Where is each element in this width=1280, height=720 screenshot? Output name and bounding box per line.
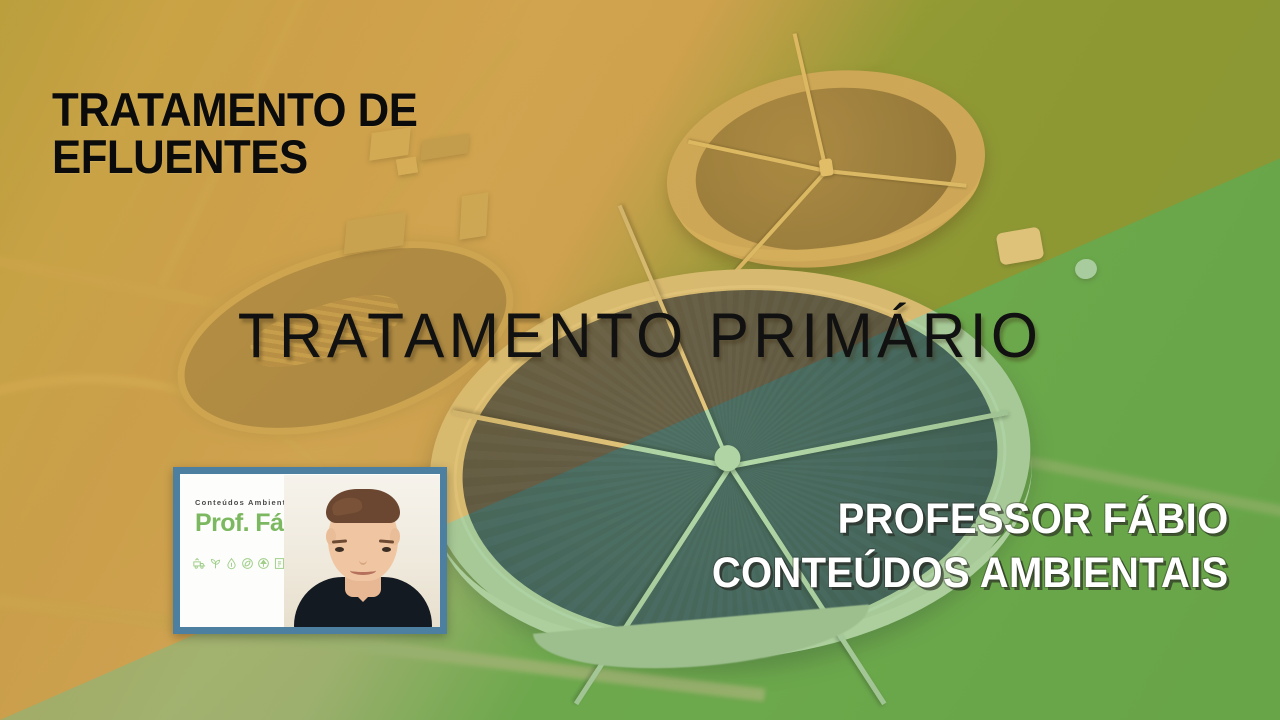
portrait-eye xyxy=(335,547,344,552)
credit-block: PROFESSOR FÁBIO CONTEÚDOS AMBIENTAIS xyxy=(711,492,1228,600)
page-title: TRATAMENTO PRIMÁRIO xyxy=(26,300,1255,372)
portrait-hair xyxy=(326,489,400,523)
logo-card-inner: Conteúdos Ambientais Prof. Fábio xyxy=(180,474,440,627)
portrait-eye xyxy=(382,547,391,552)
credit-line-2: CONTEÚDOS AMBIENTAIS xyxy=(711,546,1228,600)
kicker-line-1: TRATAMENTO DE xyxy=(52,83,417,136)
kicker-line-2: EFLUENTES xyxy=(52,133,573,180)
credit-line-1: PROFESSOR FÁBIO xyxy=(837,495,1228,543)
recycle-truck-icon xyxy=(193,557,206,570)
channel-logo-card: Conteúdos Ambientais Prof. Fábio xyxy=(173,467,447,634)
sprout-icon xyxy=(209,557,222,570)
portrait-mouth xyxy=(350,566,376,575)
leaf-circle-icon xyxy=(241,557,254,570)
kicker-title: TRATAMENTO DE EFLUENTES xyxy=(52,86,573,180)
tree-circle-icon xyxy=(257,557,270,570)
water-drop-leaf-icon xyxy=(225,557,238,570)
portrait-nose xyxy=(359,555,367,565)
video-thumbnail: TRATAMENTO DE EFLUENTES TRATAMENTO PRIMÁ… xyxy=(0,0,1280,720)
avatar xyxy=(284,475,440,627)
